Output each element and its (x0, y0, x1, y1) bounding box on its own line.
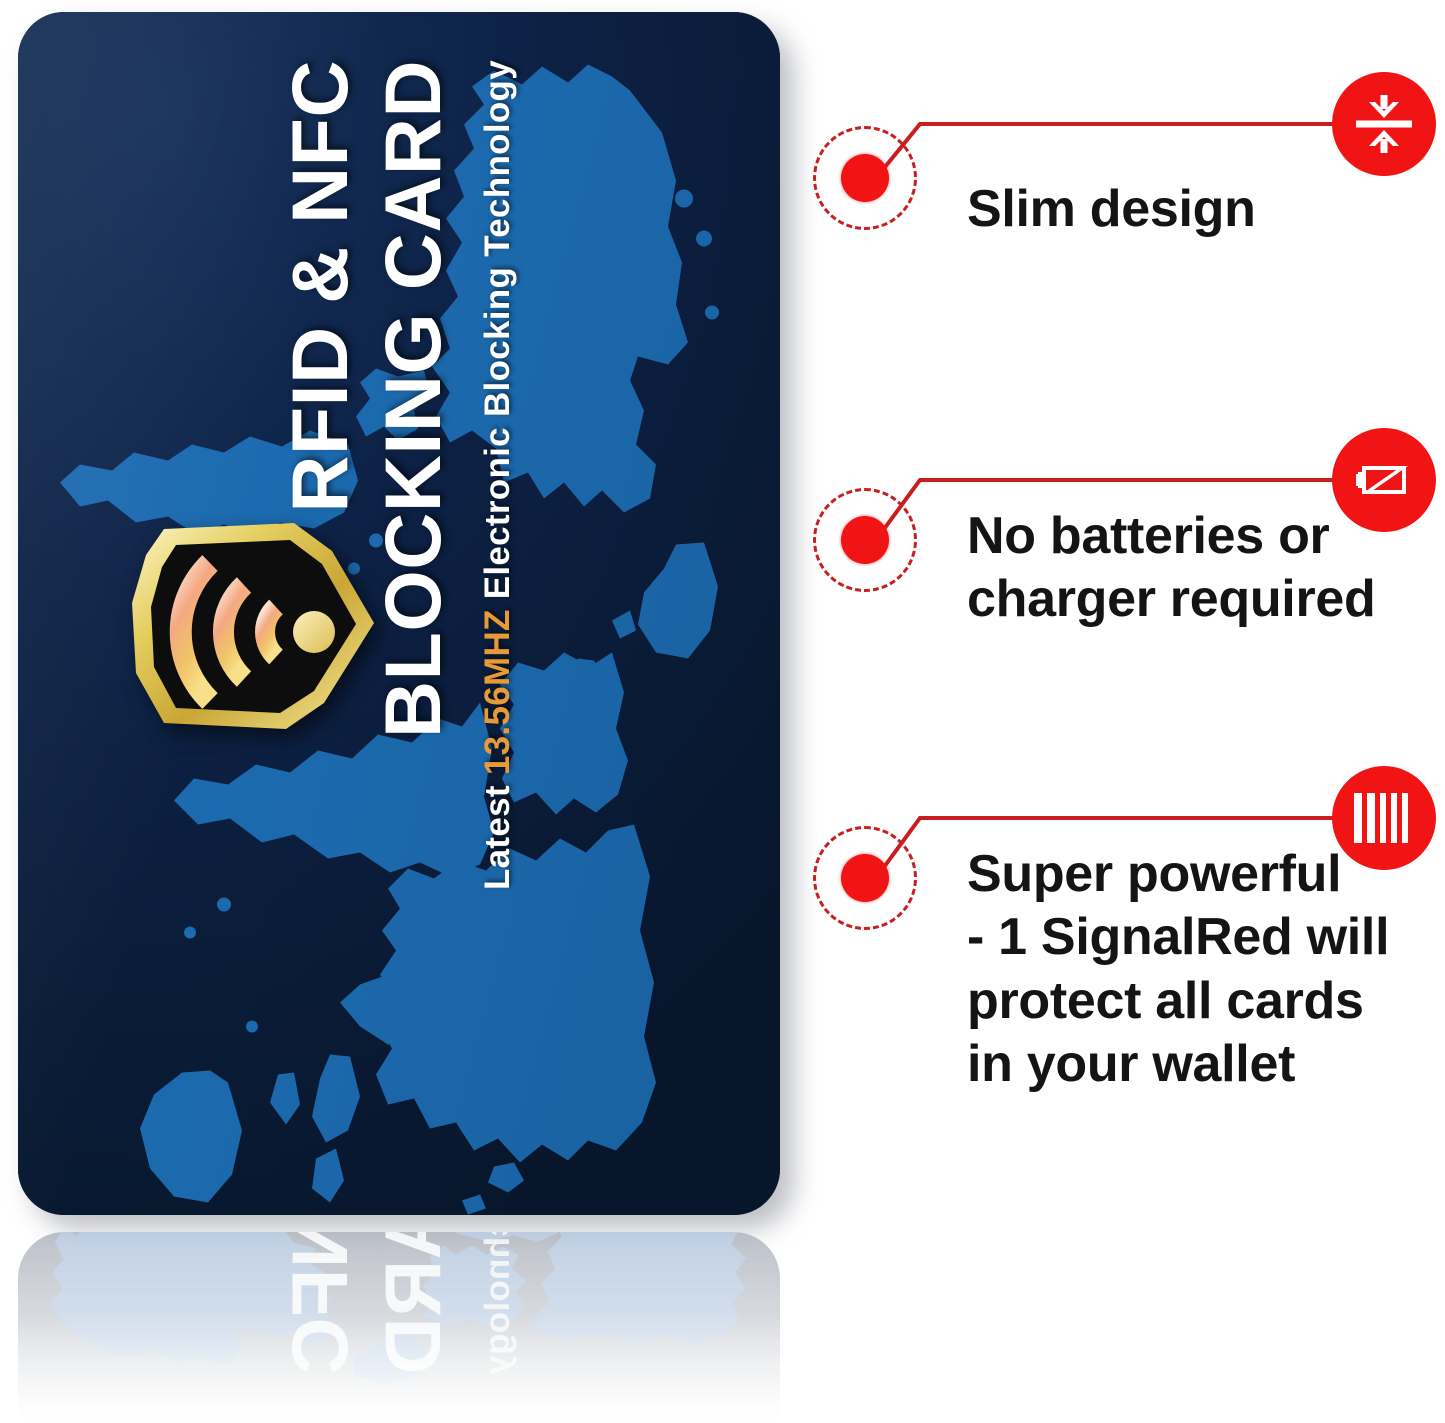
feature-super-powerful: Super powerful - 1 SignalRed will protec… (800, 680, 1445, 1200)
marker-dot-2 (841, 516, 889, 564)
feature-3-line-2: - 1 SignalRed will (967, 906, 1389, 969)
rfid-signal-badge (118, 507, 390, 744)
reflection-subtitle-suffix: Electronic Blocking Technology (478, 1232, 517, 1376)
marker-2 (813, 488, 917, 592)
feature-text-2: No batteries or charger required (967, 505, 1375, 632)
feature-text-3: Super powerful - 1 SignalRed will protec… (967, 843, 1389, 1097)
feature-3-line-4: in your wallet (967, 1033, 1389, 1096)
reflection-text-block: RFID & NFC BLOCKING CARD Latest 13.56MHZ… (249, 1232, 549, 1382)
product-card-area: RFID & NFC BLOCKING CARD Latest 13.56MHZ… (0, 0, 800, 1423)
feature-3-line-3: protect all cards (967, 970, 1389, 1033)
compress-vertical-icon (1332, 72, 1436, 176)
feature-callout-list: Slim design (800, 0, 1445, 1423)
reflection-title-line1: RFID & NFC (280, 1232, 359, 1376)
reflection-subtitle: Latest 13.56MHZ Electronic Blocking Tech… (478, 1232, 518, 1376)
feature-2-line-1: No batteries or (967, 505, 1375, 568)
rfid-blocking-card: RFID & NFC BLOCKING CARD Latest 13.56MHZ… (18, 12, 780, 1215)
marker-dot-3 (841, 854, 889, 902)
feature-text-1: Slim design (967, 178, 1256, 241)
reflection-title-line2: BLOCKING CARD (373, 1232, 452, 1376)
feature-no-batteries: No batteries or charger required (800, 340, 1445, 680)
marker-dot-1 (841, 154, 889, 202)
feature-1-line-1: Slim design (967, 178, 1256, 241)
marker-3 (813, 826, 917, 930)
feature-slim-design: Slim design (800, 0, 1445, 340)
feature-3-line-1: Super powerful (967, 843, 1389, 906)
feature-2-line-2: charger required (967, 568, 1375, 631)
marker-1 (813, 126, 917, 230)
product-feature-graphic: RFID & NFC BLOCKING CARD Latest 13.56MHZ… (0, 0, 1445, 1423)
card-reflection: RFID & NFC BLOCKING CARD Latest 13.56MHZ… (18, 1232, 780, 1423)
